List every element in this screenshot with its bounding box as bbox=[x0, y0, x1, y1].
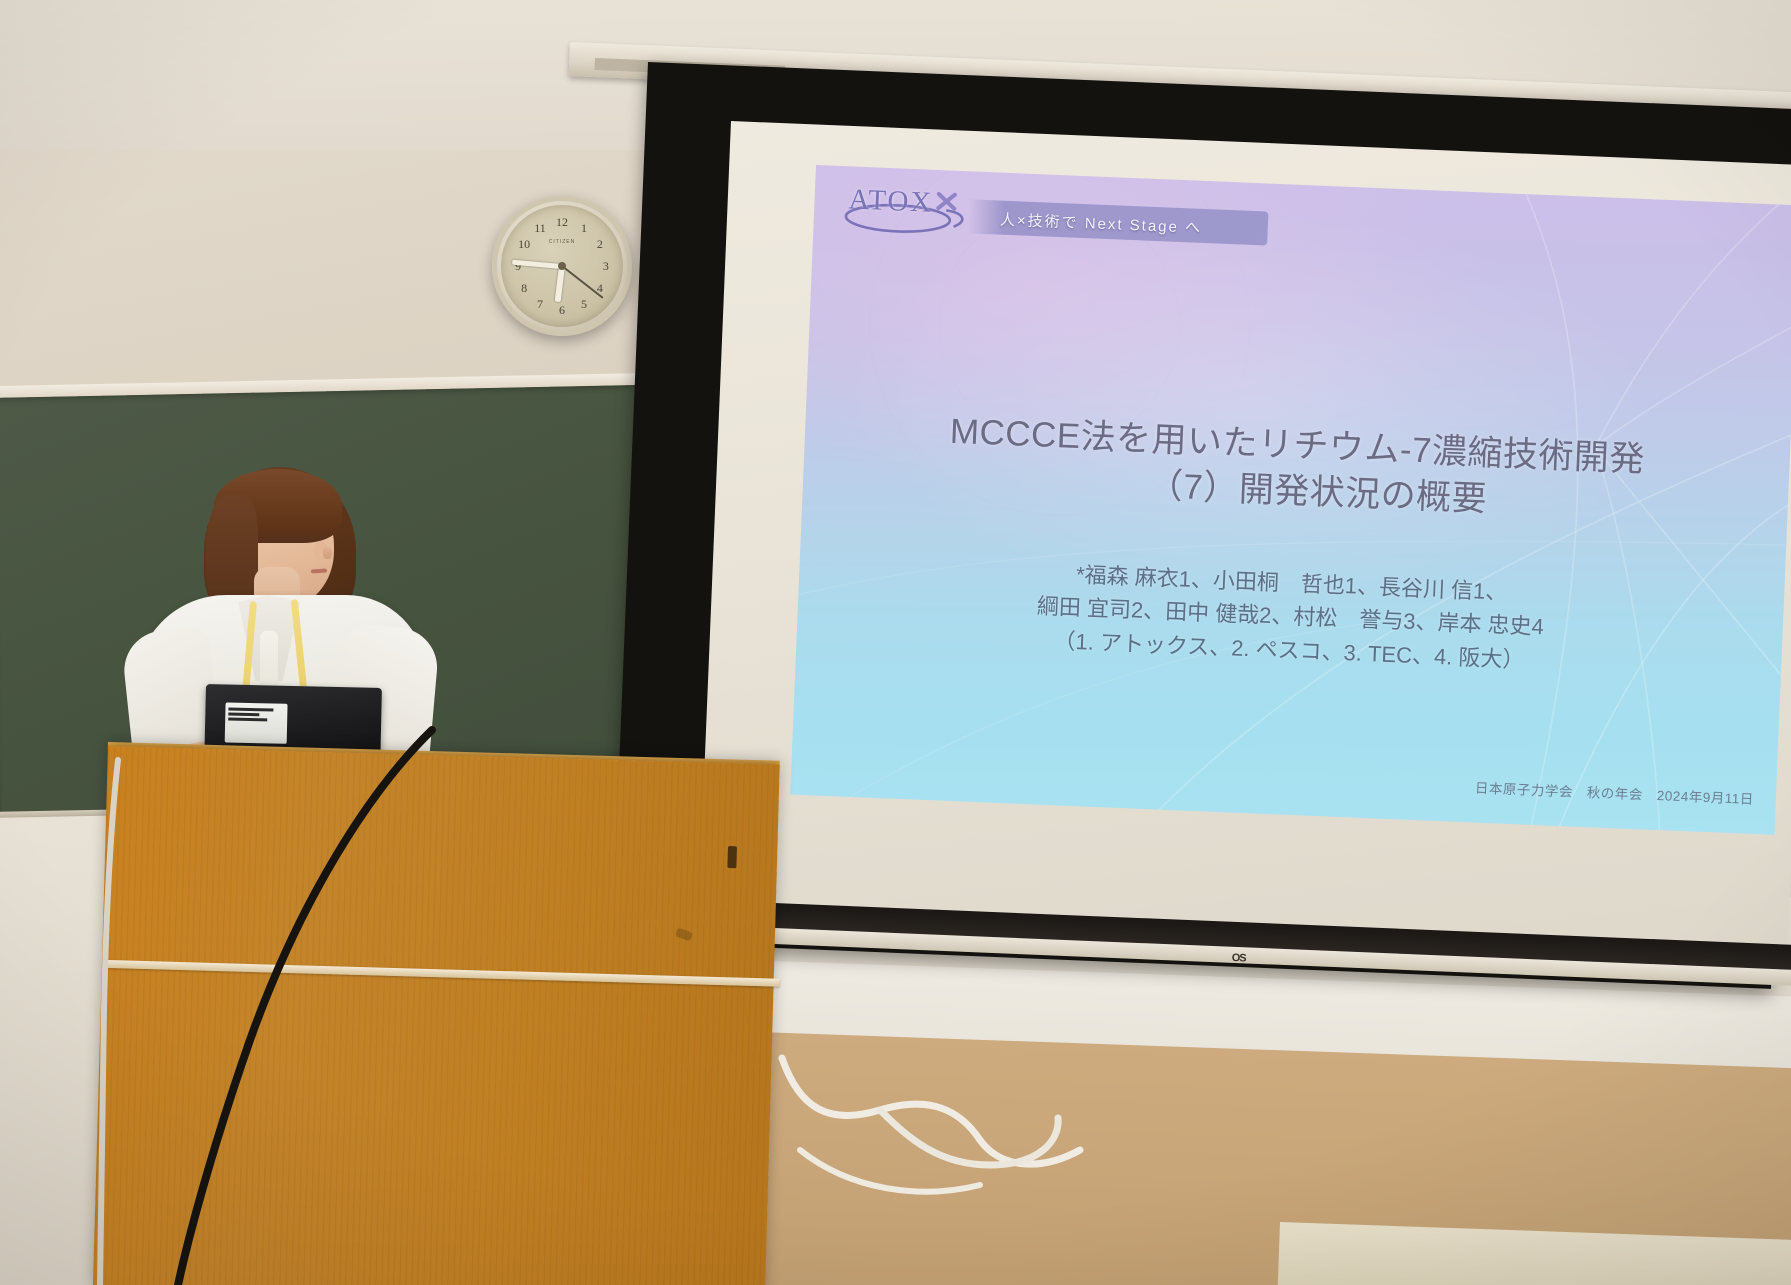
clock-numeral-5: 5 bbox=[575, 297, 593, 311]
clock-numeral-10: 10 bbox=[515, 237, 533, 251]
lecture-room-photo: CITIZEN 12 1 2 3 4 5 6 7 8 9 10 11 bbox=[0, 0, 1791, 1285]
clock-numeral-6: 6 bbox=[553, 303, 571, 317]
clock-numeral-2: 2 bbox=[591, 237, 609, 251]
projected-slide: ATOX 人×技術で Next Stage へ MCCCE法を用いたリチウム-7… bbox=[790, 165, 1791, 835]
clock-numeral-3: 3 bbox=[597, 259, 615, 273]
sticker-barcode-2 bbox=[228, 713, 259, 717]
presenter-nose bbox=[323, 547, 332, 559]
laptop-asset-sticker bbox=[225, 702, 288, 743]
clock-numeral-4: 4 bbox=[591, 281, 609, 295]
clock-numeral-8: 8 bbox=[515, 281, 533, 295]
clock-center-pin bbox=[558, 262, 566, 270]
clock-numeral-11: 11 bbox=[531, 221, 549, 235]
clock-hour-hand bbox=[555, 266, 565, 302]
wall-clock: CITIZEN 12 1 2 3 4 5 6 7 8 9 10 11 bbox=[492, 196, 632, 336]
atox-wordmark: ATOX bbox=[848, 183, 934, 219]
sticker-barcode-3 bbox=[228, 718, 267, 722]
sticker-barcode bbox=[228, 708, 273, 712]
podium-side-notch bbox=[727, 846, 737, 868]
clock-face: CITIZEN 12 1 2 3 4 5 6 7 8 9 10 11 bbox=[501, 205, 623, 327]
clock-numeral-7: 7 bbox=[531, 297, 549, 311]
clock-brand-label: CITIZEN bbox=[549, 239, 575, 245]
clock-numeral-12: 12 bbox=[553, 215, 571, 229]
screen-brand-logo: OS bbox=[1232, 952, 1246, 965]
podium bbox=[93, 746, 780, 1285]
clock-numeral-1: 1 bbox=[575, 221, 593, 235]
